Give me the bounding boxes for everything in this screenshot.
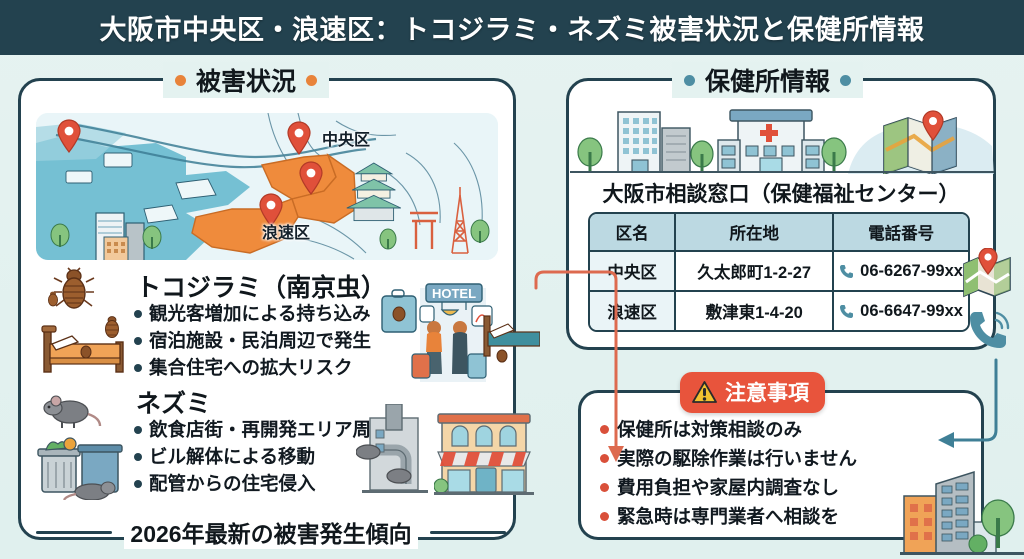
pest-block-bedbug: トコジラミ（南京虫） 観光客増加による持ち込み 宿泊施設・民泊周辺で発生 集合住… xyxy=(36,272,496,384)
list-item: ビル解体による移動 xyxy=(134,443,390,470)
list-item-label: ビル解体による移動 xyxy=(149,443,315,470)
trash-bin-icon xyxy=(36,432,132,500)
table-row[interactable]: 浪速区 敷津東1-4-20 06-6647-99xx xyxy=(590,292,968,330)
divider xyxy=(430,531,506,534)
caution-list: 保健所は対策相談のみ 実際の駆除作業は行いません 費用負担や家屋内調査なし 緊急… xyxy=(600,415,857,531)
office-building-icon xyxy=(618,112,690,172)
damage-trend-footer: 2026年最新の被害発生傾向 xyxy=(36,515,506,549)
bullet-dot-icon xyxy=(600,425,609,434)
hotel-sign-label: HOTEL xyxy=(432,286,476,301)
map-pin-icon[interactable] xyxy=(56,119,82,153)
bed-icon xyxy=(482,306,540,370)
health-center-table[interactable]: 区名 所在地 電話番号 中央区 久太郎町1-2-27 06-6267-99xx xyxy=(588,212,970,332)
restaurant-building-icon xyxy=(434,406,534,500)
bullet-dot-icon xyxy=(134,310,142,318)
list-item: 飲食店街・再開発エリア周辺 xyxy=(134,416,390,443)
divider xyxy=(36,531,112,534)
map-pin-icon[interactable] xyxy=(286,121,312,155)
col-ward: 区名 xyxy=(590,214,676,252)
cell-ward: 浪速区 xyxy=(590,292,676,330)
col-address: 所在地 xyxy=(676,214,834,252)
rat-icon xyxy=(40,390,102,430)
bullet-dot-icon xyxy=(306,75,317,86)
page-title: 大阪市中央区・浪速区：トコジラミ・ネズミ被害状況と保健所情報 xyxy=(100,8,925,47)
damage-trend-label: 2026年最新の被害発生傾向 xyxy=(124,515,417,549)
table-header-row: 区名 所在地 電話番号 xyxy=(590,214,968,252)
list-item: 観光客増加による持ち込み xyxy=(134,300,371,327)
infographic-root: 大阪市中央区・浪速区：トコジラミ・ネズミ被害状況と保健所情報 被害状況 xyxy=(0,0,1024,559)
pest-bullets-rat: 飲食店街・再開発エリア周辺 ビル解体による移動 配管からの住宅侵入 xyxy=(134,416,390,497)
list-item: 費用負担や家屋内調査なし xyxy=(600,473,857,502)
list-item: 配管からの住宅侵入 xyxy=(134,470,390,497)
cell-tel[interactable]: 06-6267-99xx xyxy=(834,252,968,292)
damage-section-heading: 被害状況 xyxy=(163,62,329,98)
contact-window-title: 大阪市相談窓口（保健福祉センター） xyxy=(566,178,996,208)
health-center-scene xyxy=(570,96,994,174)
list-item-label: 飲食店街・再開発エリア周辺 xyxy=(149,416,390,443)
cell-address: 敷津東1-4-20 xyxy=(676,292,834,330)
list-item: 実際の駆除作業は行いません xyxy=(600,444,857,473)
bullet-dot-icon xyxy=(175,75,186,86)
bullet-dot-icon xyxy=(600,454,609,463)
pest-title-bedbug: トコジラミ（南京虫） xyxy=(136,268,386,304)
list-item: 保健所は対策相談のみ xyxy=(600,415,857,444)
bullet-dot-icon xyxy=(134,364,142,372)
pest-block-rat: ネズミ 飲食店街・再開発エリア周辺 ビル解体による移動 配管からの住宅侵入 xyxy=(36,388,496,500)
folded-map-icon xyxy=(884,111,956,174)
list-item-label: 配管からの住宅侵入 xyxy=(149,470,316,497)
list-item-label: 保健所は対策相談のみ xyxy=(617,415,802,444)
list-item-label: 緊急時は専門業者へ相談を xyxy=(617,502,839,531)
bullet-dot-icon xyxy=(134,453,142,461)
map-label-naniwa: 浪速区 xyxy=(262,219,310,243)
pipe-icon xyxy=(356,404,434,500)
list-item: 緊急時は専門業者へ相談を xyxy=(600,502,857,531)
phone-icon xyxy=(839,264,854,279)
list-item-label: 観光客増加による持ち込み xyxy=(149,300,370,327)
list-item: 集合住宅への拡大リスク xyxy=(134,354,371,381)
bedbug-icon xyxy=(44,290,62,308)
bullet-dot-icon xyxy=(600,512,609,521)
cell-address: 久太郎町1-2-27 xyxy=(676,252,834,292)
bullet-dot-icon xyxy=(134,426,142,434)
list-item-label: 集合住宅への拡大リスク xyxy=(149,354,353,381)
cell-ward: 中央区 xyxy=(590,252,676,292)
list-item-label: 実際の駆除作業は行いません xyxy=(617,444,857,473)
caution-badge-label: 注意事項 xyxy=(725,377,809,407)
caution-badge: 注意事項 xyxy=(680,372,825,413)
cell-tel[interactable]: 06-6647-99xx xyxy=(834,292,968,330)
map-pin-icon[interactable] xyxy=(298,161,324,195)
tel-label: 06-6647-99xx xyxy=(860,302,963,321)
table-row[interactable]: 中央区 久太郎町1-2-27 06-6267-99xx xyxy=(590,252,968,292)
ringing-phone-icon[interactable] xyxy=(966,306,1012,352)
page-header: 大阪市中央区・浪速区：トコジラミ・ネズミ被害状況と保健所情報 xyxy=(0,0,1024,55)
warning-triangle-icon xyxy=(692,381,717,404)
bedbug-icon xyxy=(100,314,124,340)
bullet-dot-icon xyxy=(840,75,851,86)
bullet-dot-icon xyxy=(684,75,695,86)
folded-map-pin-icon[interactable] xyxy=(962,248,1014,300)
pest-title-rat: ネズミ xyxy=(136,384,211,420)
bullet-dot-icon xyxy=(134,480,142,488)
pest-bullets-bedbug: 観光客増加による持ち込み 宿泊施設・民泊周辺で発生 集合住宅への拡大リスク xyxy=(134,300,371,381)
col-tel: 電話番号 xyxy=(834,214,968,252)
bullet-dot-icon xyxy=(134,337,142,345)
damage-heading-label: 被害状況 xyxy=(196,62,296,98)
list-item-label: 宿泊施設・民泊周辺で発生 xyxy=(149,327,371,354)
bullet-dot-icon xyxy=(600,483,609,492)
hotel-scene-icon: HOTEL xyxy=(380,270,498,382)
health-section-heading: 保健所情報 xyxy=(672,62,863,98)
list-item: 宿泊施設・民泊周辺で発生 xyxy=(134,327,371,354)
tel-label: 06-6267-99xx xyxy=(860,262,963,281)
map-label-chuo: 中央区 xyxy=(322,126,370,150)
phone-icon xyxy=(839,304,854,319)
health-heading-label: 保健所情報 xyxy=(705,62,830,98)
list-item-label: 費用負担や家屋内調査なし xyxy=(617,473,839,502)
hospital-icon xyxy=(718,110,824,172)
city-buildings-icon xyxy=(900,466,1024,559)
